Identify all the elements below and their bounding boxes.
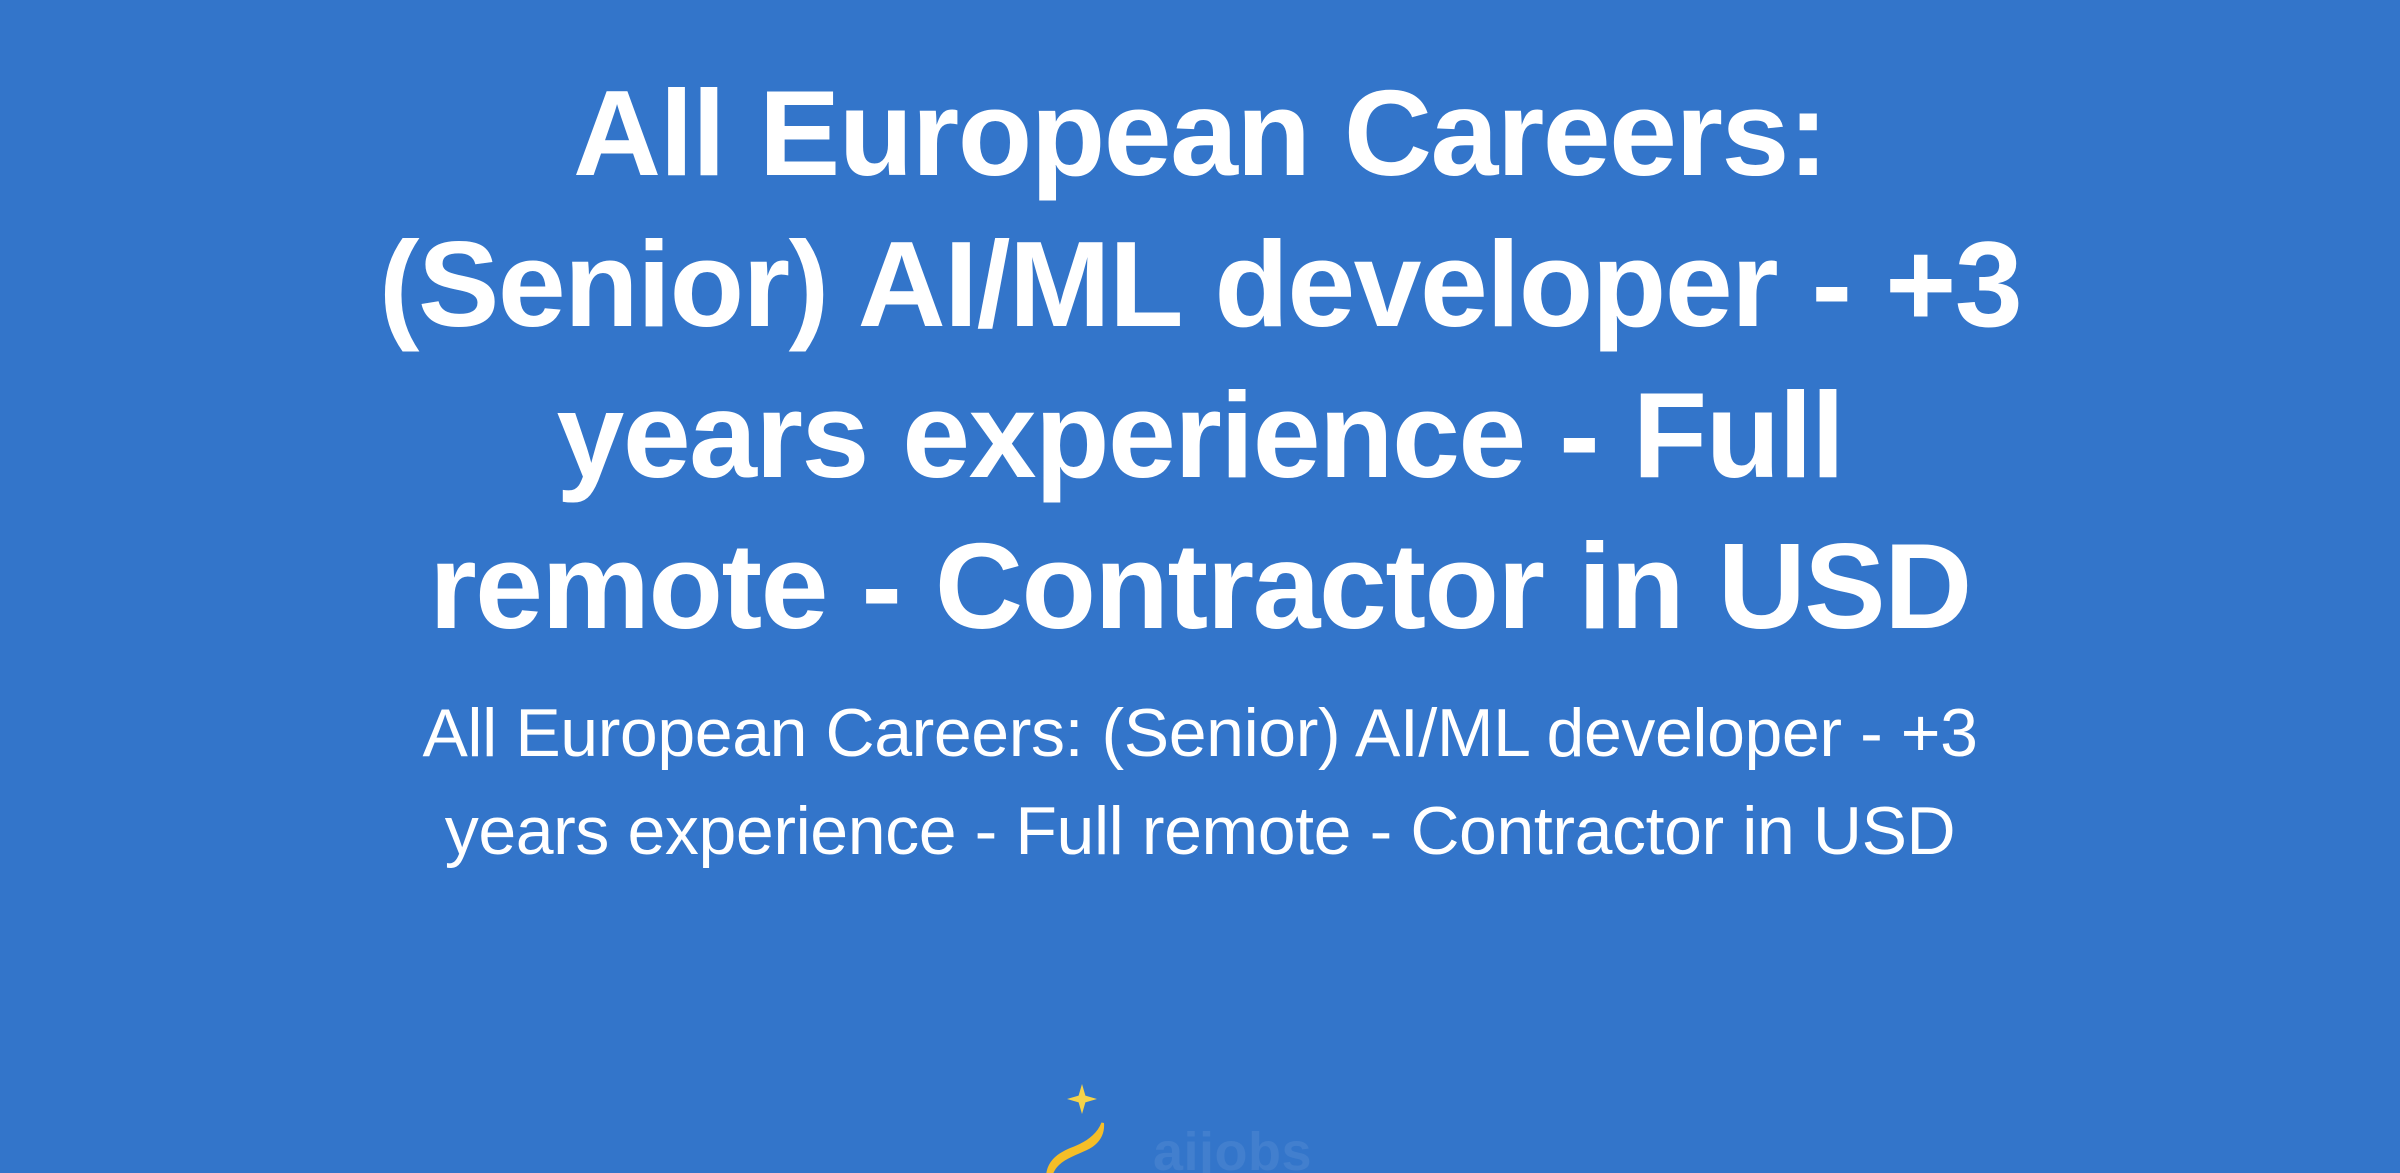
brand-logo-lockup[interactable]: aijobs: [1035, 1080, 1312, 1173]
brand-wordmark: aijobs: [1153, 1124, 1312, 1173]
page-subtitle: All European Careers: (Senior) AI/ML dev…: [340, 662, 2060, 880]
card-content: All European Careers: (Senior) AI/ML dev…: [0, 0, 2400, 880]
comet-swoosh-icon: [1035, 1080, 1139, 1173]
page-title: All European Careers: (Senior) AI/ML dev…: [370, 58, 2030, 662]
share-card: All European Careers: (Senior) AI/ML dev…: [0, 0, 2400, 1173]
